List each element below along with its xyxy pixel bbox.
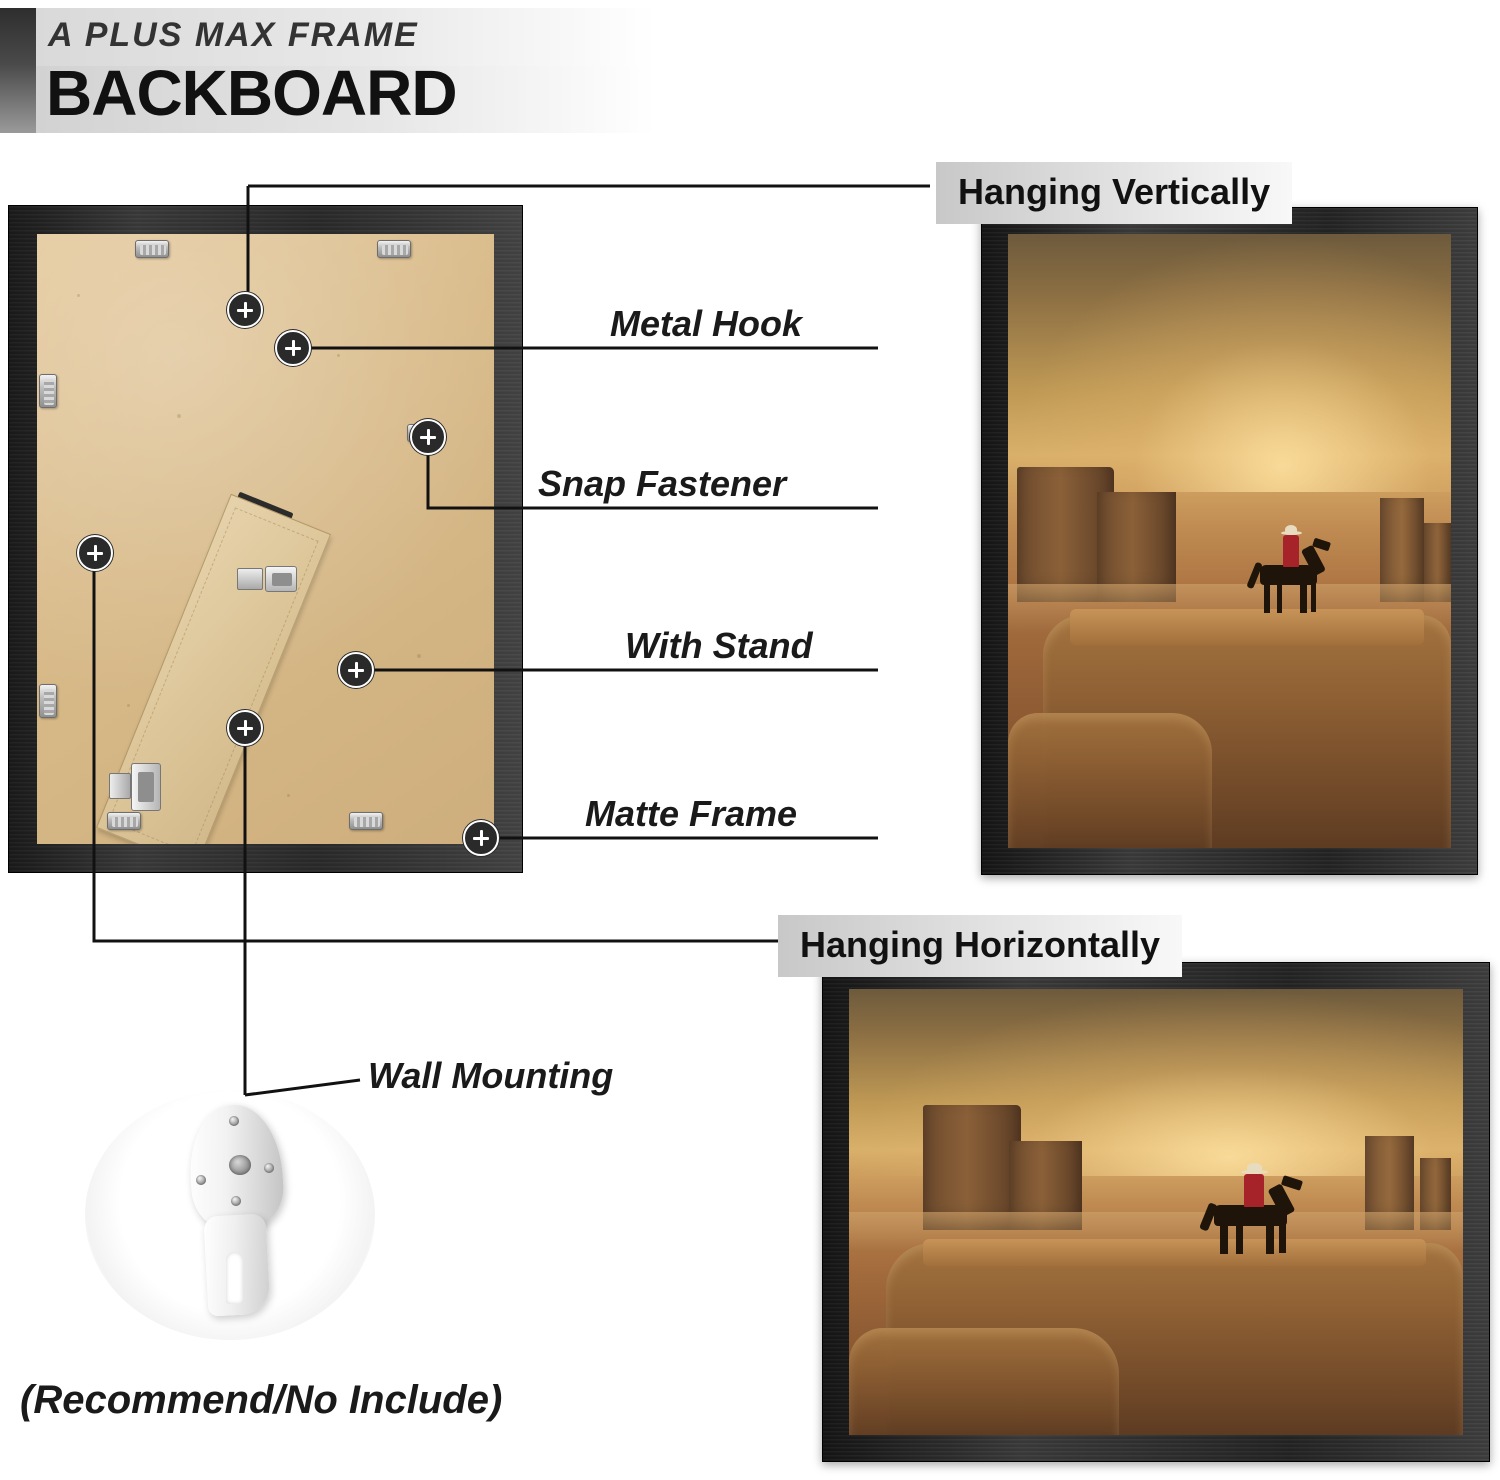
mesa-foreground — [1008, 713, 1212, 848]
callout-label-snap-fastener: Snap Fastener — [538, 463, 786, 505]
horse-head — [1281, 1176, 1303, 1191]
photo-horizontal — [849, 989, 1463, 1435]
callout-label-metal-hook: Metal Hook — [610, 303, 802, 345]
speckle — [417, 654, 421, 658]
photo-frame-vertical — [981, 207, 1478, 875]
sky-glow — [1008, 234, 1451, 492]
callout-marker-snap-fastener[interactable] — [410, 419, 446, 455]
snap-fastener-clip — [349, 812, 383, 830]
footnote-recommend: (Recommend/No Include) — [20, 1378, 502, 1423]
callout-marker-hook-top[interactable] — [227, 292, 263, 328]
mesa-foreground — [849, 1328, 1119, 1435]
rider-torso — [1283, 535, 1299, 566]
header: A PLUS MAX FRAME BACKBOARD — [0, 0, 680, 150]
speckle — [287, 794, 290, 797]
speckle — [337, 354, 340, 357]
callout-label-matte-frame: Matte Frame — [585, 793, 797, 835]
header-accent-bar — [0, 8, 36, 133]
snap-fastener-clip — [135, 240, 169, 258]
wall-hook-nail-hole — [231, 1196, 241, 1206]
photo-vertical — [1008, 234, 1451, 848]
metal-hook-left — [109, 759, 179, 815]
speckle — [177, 414, 181, 418]
wall-hook-nail-hole — [229, 1116, 239, 1126]
snap-fastener-clip — [39, 684, 57, 718]
scene-canyon-vertical — [1008, 234, 1451, 848]
horse-leg — [1279, 1223, 1286, 1253]
horse-leg — [1266, 1223, 1274, 1254]
photo-frame-horizontal — [822, 962, 1490, 1462]
callout-marker-wall-mounting[interactable] — [227, 710, 263, 746]
callout-marker-metal-hook[interactable] — [275, 330, 311, 366]
hook-plate — [265, 566, 297, 592]
mesa-lip — [923, 1239, 1426, 1266]
snap-fastener-clip — [39, 374, 57, 408]
brand-name: A PLUS MAX FRAME — [48, 16, 419, 55]
callout-marker-matte-frame[interactable] — [463, 820, 499, 856]
section-title-hanging-horizontally: Hanging Horizontally — [778, 915, 1182, 977]
horse-leg — [1300, 583, 1306, 612]
wall-hook-center-hole — [229, 1155, 251, 1175]
snap-fastener-clip — [377, 240, 411, 258]
wall-hook-notch — [226, 1252, 243, 1304]
page-title: BACKBOARD — [46, 56, 457, 130]
horse-leg — [1311, 583, 1316, 611]
rider-silhouette — [1193, 1150, 1328, 1257]
horse-leg — [1236, 1223, 1243, 1254]
callout-marker-with-stand[interactable] — [338, 652, 374, 688]
scene-canyon-horizontal — [849, 989, 1463, 1435]
horse-leg — [1264, 583, 1270, 612]
rider-silhouette — [1243, 510, 1349, 614]
horse-leg — [1277, 583, 1282, 612]
hook-plate — [237, 568, 263, 590]
speckle — [127, 704, 130, 707]
rider-torso — [1244, 1174, 1264, 1207]
callout-label-wall-mounting: Wall Mounting — [368, 1055, 613, 1097]
cowboy-hat-brim — [1241, 1170, 1268, 1174]
wall-hook-nail-hole — [196, 1175, 206, 1185]
horse-body — [1260, 565, 1317, 586]
callout-label-with-stand: With Stand — [625, 625, 813, 667]
callout-marker-hook-left[interactable] — [77, 535, 113, 571]
wall-hook-nail-hole — [264, 1163, 274, 1173]
speckle — [77, 294, 80, 297]
section-title-hanging-vertically: Hanging Vertically — [936, 162, 1292, 224]
horse-leg — [1220, 1223, 1228, 1254]
metal-hook-top — [237, 564, 299, 594]
hook-plate — [109, 773, 131, 799]
hook-plate — [131, 763, 161, 811]
